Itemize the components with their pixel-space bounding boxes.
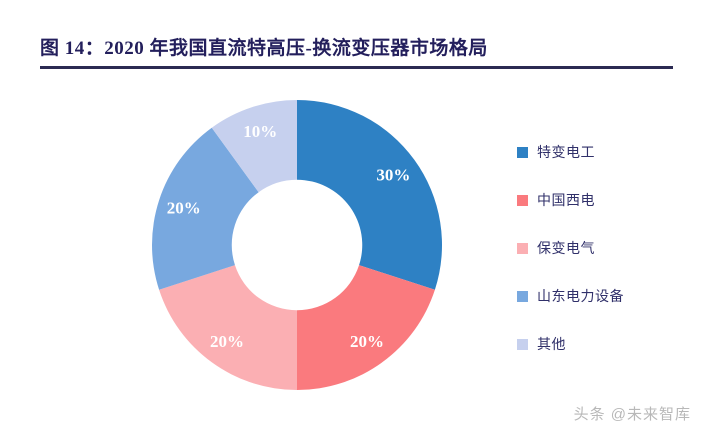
legend-swatch-icon [517,147,528,158]
legend-item[interactable]: 其他 [517,320,707,368]
donut-slice-label: 20% [210,332,244,351]
title-divider [40,66,673,69]
donut-slice-label: 20% [350,332,384,351]
donut-chart-svg: 30%20%20%20%10% [152,100,442,390]
donut-slice[interactable] [297,100,442,290]
donut-slice[interactable] [159,265,297,390]
legend-item-label: 保变电气 [537,238,595,258]
legend-item[interactable]: 特变电工 [517,128,707,176]
chart-legend: 特变电工中国西电保变电气山东电力设备其他 [517,128,707,368]
page-title: 图 14：2020 年我国直流特高压-换流变压器市场格局 [40,36,673,62]
donut-slices [152,100,442,390]
donut-slice-label: 20% [167,199,201,218]
legend-item-label: 中国西电 [537,190,595,210]
legend-item-label: 其他 [537,334,566,354]
legend-swatch-icon [517,243,528,254]
legend-item-label: 特变电工 [537,142,595,162]
chart-area: 30%20%20%20%10% 特变电工中国西电保变电气山东电力设备其他 [0,88,713,408]
legend-swatch-icon [517,291,528,302]
legend-swatch-icon [517,195,528,206]
chart-title-block: 图 14：2020 年我国直流特高压-换流变压器市场格局 [40,36,673,69]
legend-swatch-icon [517,339,528,350]
watermark: 头条 @未来智库 [574,403,691,424]
legend-item[interactable]: 山东电力设备 [517,272,707,320]
legend-item-label: 山东电力设备 [537,286,624,306]
donut-slice-label: 10% [243,122,277,141]
donut-chart: 30%20%20%20%10% [152,100,442,390]
donut-slice[interactable] [297,265,435,390]
legend-item[interactable]: 保变电气 [517,224,707,272]
donut-slice-label: 30% [376,165,410,184]
legend-item[interactable]: 中国西电 [517,176,707,224]
